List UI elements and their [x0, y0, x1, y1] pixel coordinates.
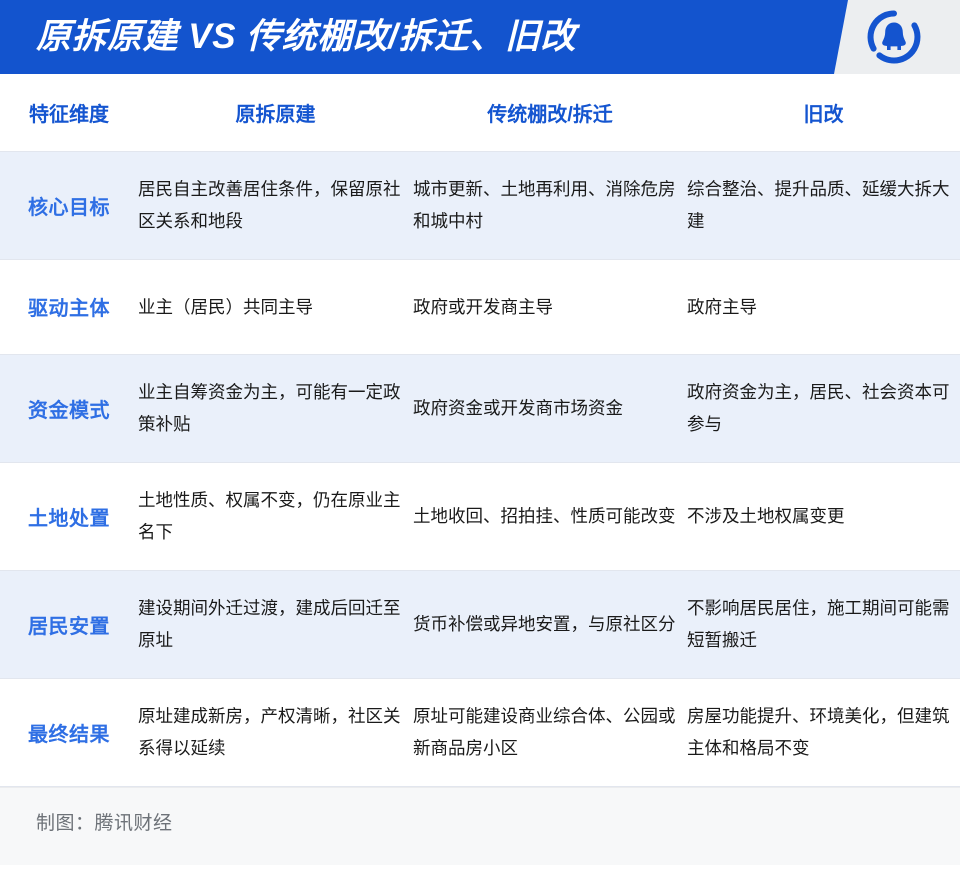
comparison-table: 特征维度 原拆原建 传统棚改/拆迁 旧改 核心目标 居民自主改善居住条件，保留原… — [0, 74, 960, 787]
table-row: 驱动主体 业主（居民）共同主导 政府或开发商主导 政府主导 — [0, 259, 960, 354]
row-label: 土地处置 — [0, 462, 138, 570]
footer: 制图：腾讯财经 — [0, 787, 960, 865]
cell-pengai: 原址可能建设商业综合体、公园或新商品房小区 — [413, 678, 687, 786]
table-row: 土地处置 土地性质、权属不变，仍在原业主名下 土地收回、招拍挂、性质可能改变 不… — [0, 462, 960, 570]
cell-pengai: 城市更新、土地再利用、消除危房和城中村 — [413, 151, 687, 259]
row-label: 核心目标 — [0, 151, 138, 259]
cell-jiugai: 政府主导 — [687, 259, 960, 354]
column-header-dimension: 特征维度 — [0, 74, 138, 151]
column-header-pengai: 传统棚改/拆迁 — [413, 74, 687, 151]
cell-jiugai: 不涉及土地权属变更 — [687, 462, 960, 570]
table-row: 居民安置 建设期间外迁过渡，建成后回迁至原址 货币补偿或异地安置，与原社区分 不… — [0, 570, 960, 678]
cell-pengai: 货币补偿或异地安置，与原社区分 — [413, 570, 687, 678]
row-label: 驱动主体 — [0, 259, 138, 354]
table-row: 资金模式 业主自筹资金为主，可能有一定政策补贴 政府资金或开发商市场资金 政府资… — [0, 354, 960, 462]
cell-yuanchai: 原址建成新房，产权清晰，社区关系得以延续 — [138, 678, 413, 786]
column-header-yuanchai: 原拆原建 — [138, 74, 413, 151]
row-label: 居民安置 — [0, 570, 138, 678]
cell-pengai: 土地收回、招拍挂、性质可能改变 — [413, 462, 687, 570]
tencent-qq-penguin-logo-icon — [866, 9, 922, 65]
column-header-jiugai: 旧改 — [687, 74, 960, 151]
table-row: 最终结果 原址建成新房，产权清晰，社区关系得以延续 原址可能建设商业综合体、公园… — [0, 678, 960, 786]
table-row: 核心目标 居民自主改善居住条件，保留原社区关系和地段 城市更新、土地再利用、消除… — [0, 151, 960, 259]
cell-yuanchai: 建设期间外迁过渡，建成后回迁至原址 — [138, 570, 413, 678]
page-title: 原拆原建 VS 传统棚改/拆迁、旧改 — [36, 0, 576, 74]
cell-yuanchai: 居民自主改善居住条件，保留原社区关系和地段 — [138, 151, 413, 259]
cell-yuanchai: 业主自筹资金为主，可能有一定政策补贴 — [138, 354, 413, 462]
cell-jiugai: 政府资金为主，居民、社会资本可参与 — [687, 354, 960, 462]
cell-jiugai: 综合整治、提升品质、延缓大拆大建 — [687, 151, 960, 259]
cell-jiugai: 房屋功能提升、环境美化，但建筑主体和格局不变 — [687, 678, 960, 786]
cell-yuanchai: 业主（居民）共同主导 — [138, 259, 413, 354]
cell-yuanchai: 土地性质、权属不变，仍在原业主名下 — [138, 462, 413, 570]
infographic-page: 原拆原建 VS 传统棚改/拆迁、旧改 特征维度 原拆原建 传统棚改/拆迁 旧改 — [0, 0, 960, 880]
cell-pengai: 政府或开发商主导 — [413, 259, 687, 354]
cell-pengai: 政府资金或开发商市场资金 — [413, 354, 687, 462]
cell-jiugai: 不影响居民居住，施工期间可能需短暂搬迁 — [687, 570, 960, 678]
header: 原拆原建 VS 传统棚改/拆迁、旧改 — [0, 0, 960, 74]
row-label: 资金模式 — [0, 354, 138, 462]
credit-text: 制图：腾讯财经 — [36, 808, 173, 835]
row-label: 最终结果 — [0, 678, 138, 786]
table-header-row: 特征维度 原拆原建 传统棚改/拆迁 旧改 — [0, 74, 960, 151]
